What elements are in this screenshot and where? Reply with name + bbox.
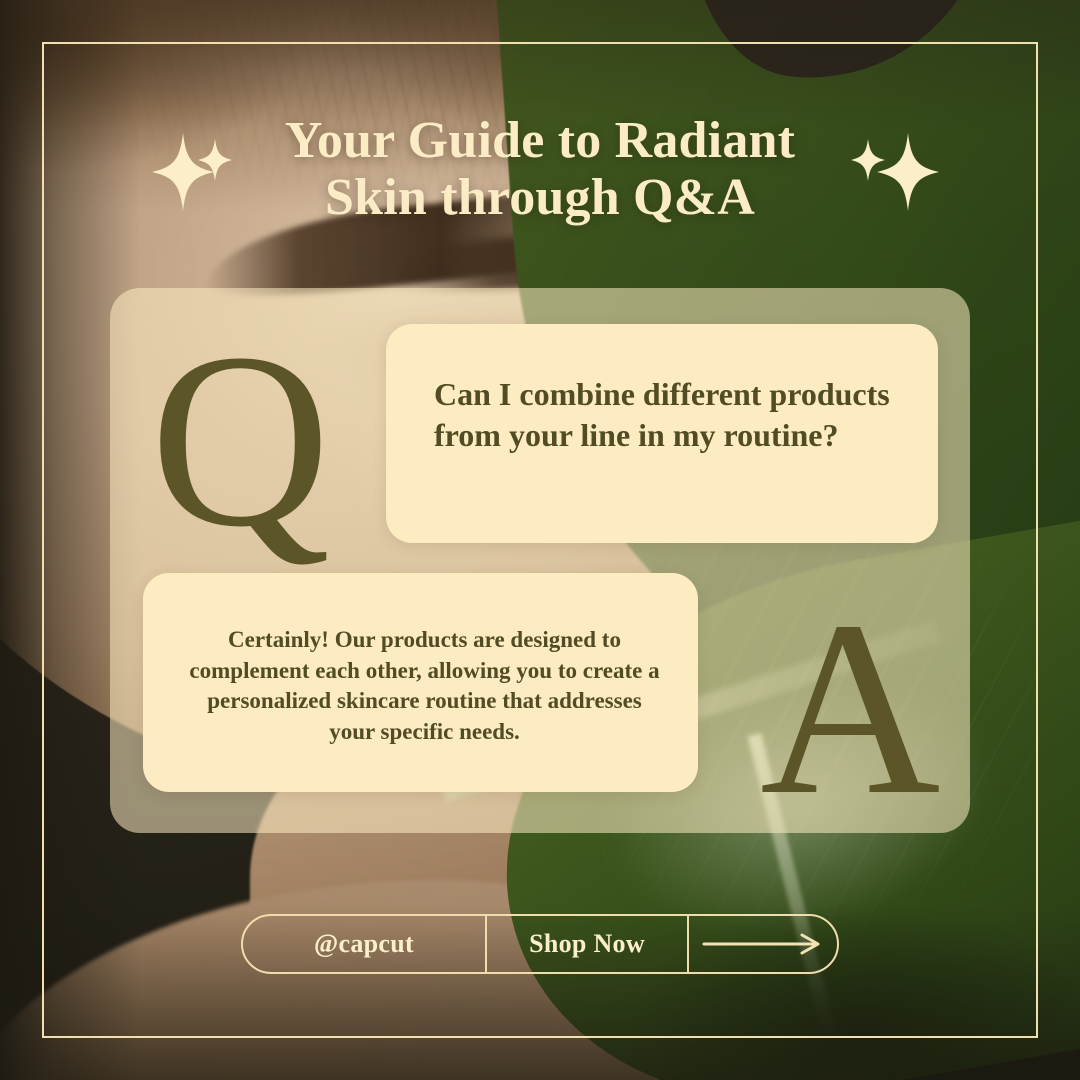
title-line-2: Skin through Q&A xyxy=(0,169,1080,226)
social-handle[interactable]: @capcut xyxy=(243,916,485,972)
answer-card: Certainly! Our products are designed to … xyxy=(143,573,698,792)
arrow-right-icon[interactable] xyxy=(689,916,837,972)
title-line-1: Your Guide to Radiant xyxy=(0,112,1080,169)
footer-pill-bar: @capcut Shop Now xyxy=(241,914,839,974)
answer-letter: A xyxy=(760,584,941,834)
question-letter: Q xyxy=(150,316,331,566)
post-title: Your Guide to Radiant Skin through Q&A xyxy=(0,112,1080,226)
answer-text: Certainly! Our products are designed to … xyxy=(183,625,666,747)
social-post-canvas: Your Guide to Radiant Skin through Q&A Q… xyxy=(0,0,1080,1080)
shop-now-button[interactable]: Shop Now xyxy=(485,916,689,972)
question-text: Can I combine different products from yo… xyxy=(434,374,898,456)
question-card: Can I combine different products from yo… xyxy=(386,324,938,543)
